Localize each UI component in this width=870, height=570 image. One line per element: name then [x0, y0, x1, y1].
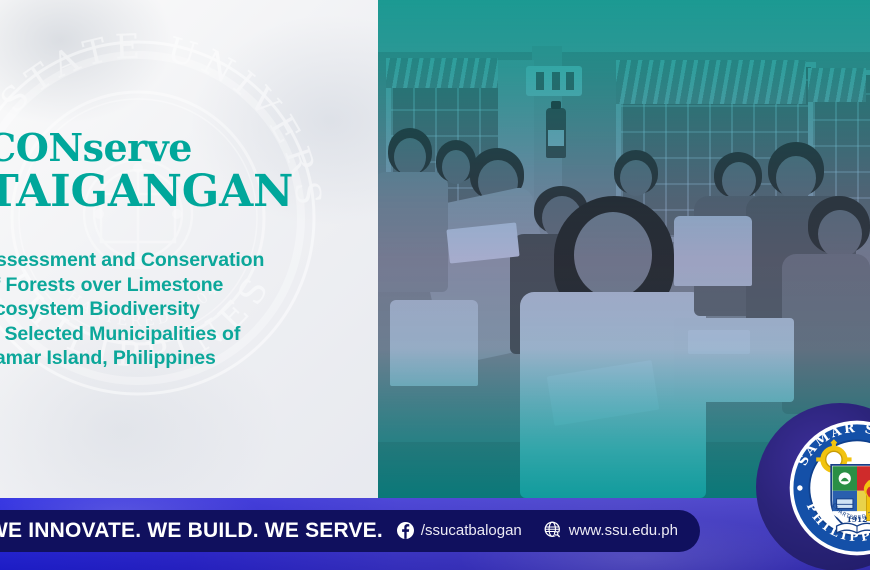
- website-link[interactable]: www.ssu.edu.ph: [544, 521, 678, 539]
- facebook-link[interactable]: /ssucatbalogan: [397, 522, 522, 539]
- globe-icon: [544, 521, 562, 539]
- project-title: CONserve TAIGANGAN: [0, 128, 346, 216]
- footer-navbar: WE INNOVATE. WE BUILD. WE SERVE. /ssucat…: [0, 510, 700, 552]
- subtitle-line-4: in Selected Municipalities of: [0, 322, 362, 347]
- ssu-official-seal: SAMAR STATE PHILIPPINES: [789, 420, 870, 556]
- facebook-icon: [397, 522, 414, 539]
- subtitle-line-3: Ecosystem Biodiversity: [0, 297, 362, 322]
- promotional-banner: SAMAR STATE UNIVERSITY PHILIPPINES CHART…: [0, 0, 870, 570]
- subtitle-line-1: Assessment and Conservation: [0, 248, 362, 273]
- website-url: www.ssu.edu.ph: [569, 522, 678, 539]
- title-line-1: CONserve: [0, 128, 346, 168]
- project-subtitle: Assessment and Conservation of Forests o…: [0, 248, 362, 371]
- footer-tagline: WE INNOVATE. WE BUILD. WE SERVE.: [0, 519, 383, 543]
- left-content-panel: SAMAR STATE UNIVERSITY PHILIPPINES CHART…: [0, 0, 380, 570]
- subtitle-line-2: of Forests over Limestone: [0, 273, 362, 298]
- subtitle-line-5: Samar Island, Philippines: [0, 346, 362, 371]
- facebook-handle: /ssucatbalogan: [421, 522, 522, 539]
- footer-social-links: /ssucatbalogan www.ssu.edu.ph: [397, 521, 678, 539]
- title-line-2: TAIGANGAN: [0, 168, 346, 216]
